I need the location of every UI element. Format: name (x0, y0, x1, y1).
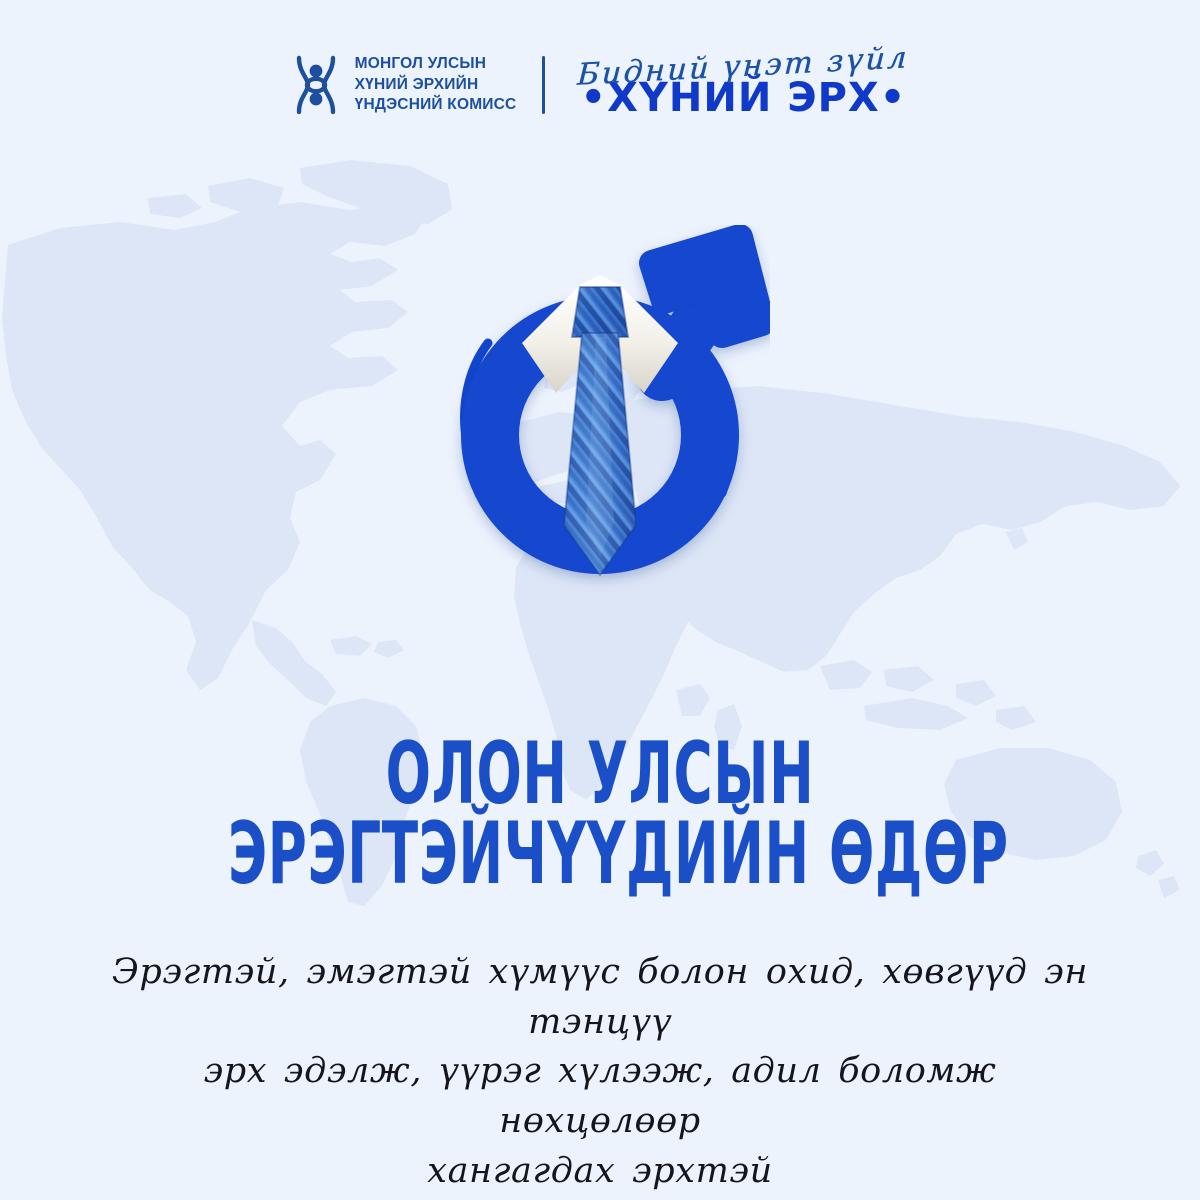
body-line-3: хангагдах эрхтэй (100, 1147, 1100, 1197)
organization-name: МОНГОЛ УЛСЫН ХҮНИЙ ЭРХИЙН ҮНДЭСНИЙ КОМИС… (355, 54, 517, 115)
vertical-divider-icon (542, 56, 545, 114)
body-copy: Эрэгтэй, эмэгтэй хүмүүс болон охид, хөвг… (100, 948, 1100, 1196)
poster-header: МОНГОЛ УЛСЫН ХҮНИЙ ЭРХИЙН ҮНДЭСНИЙ КОМИС… (0, 0, 1200, 170)
male-symbol-with-tie-artwork (430, 225, 770, 705)
brand-lockup: Бидний үнэт зүйл •ХҮНИЙ ЭРХ• (577, 52, 909, 118)
headline-line-2: ЭРЭГТЭЙЧҮҮДИЙН ӨДӨР (228, 815, 972, 895)
figure-head-dot (309, 65, 322, 78)
figure-body-dot (309, 93, 322, 106)
page-title: ОЛОН УЛСЫН ЭРЭГТЭЙЧҮҮДИЙН ӨДӨР (0, 735, 1200, 895)
human-rights-figure-icon (291, 54, 341, 116)
body-line-1: Эрэгтэй, эмэгтэй хүмүүс болон охид, хөвг… (100, 948, 1100, 1047)
organization-lockup: МОНГОЛ УЛСЫН ХҮНИЙ ЭРХИЙН ҮНДЭСНИЙ КОМИС… (291, 54, 517, 116)
headline-line-1: ОЛОН УЛСЫН (228, 735, 972, 815)
body-line-2: эрх эдэлж, үүрэг хүлээж, адил боломж нөх… (100, 1047, 1100, 1146)
poster-canvas: МОНГОЛ УЛСЫН ХҮНИЙ ЭРХИЙН ҮНДЭСНИЙ КОМИС… (0, 0, 1200, 1200)
